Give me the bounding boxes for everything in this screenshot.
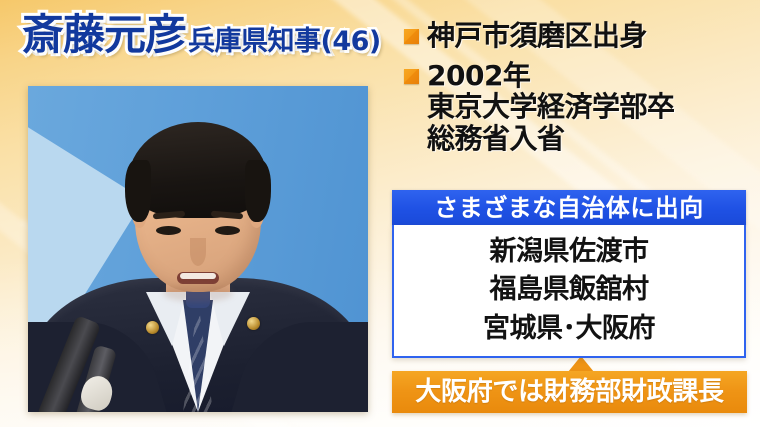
arrow-up-icon <box>568 356 594 372</box>
photo-hair-side-left <box>125 160 151 222</box>
photo-lapel-badge <box>146 321 159 334</box>
list-item-text: 2002年 東京大学経済学部卒 総務省入省 <box>427 60 675 155</box>
panel-header-bar: さまざまな自治体に出向 <box>392 190 746 225</box>
fact-bullet-list: 神戸市須磨区出身 2002年 東京大学経済学部卒 総務省入省 <box>404 20 754 163</box>
subject-photo <box>28 86 368 412</box>
panel-list-item: 新潟県佐渡市 <box>490 233 649 271</box>
subject-title: 兵庫県知事(46) <box>188 28 381 55</box>
list-item: 2002年 東京大学経済学部卒 総務省入省 <box>404 60 754 155</box>
list-item-line: 2002年 <box>427 59 530 92</box>
orange-square-bullet-icon <box>404 69 419 84</box>
panel-list-item: 福島県飯舘村 <box>490 271 649 309</box>
photo-eye-right <box>215 226 240 235</box>
list-item-line: 神戸市須磨区出身 <box>427 19 647 52</box>
panel-body: 新潟県佐渡市 福島県飯舘村 宮城県･大阪府 <box>392 225 746 358</box>
photo-lapel-badge <box>247 317 260 330</box>
photo-teeth <box>180 273 216 279</box>
photo-nose <box>190 238 206 266</box>
list-item: 神戸市須磨区出身 <box>404 20 754 52</box>
photo-chin-shadow <box>163 284 233 302</box>
news-graphic-stage: 斎藤元彦 兵庫県知事(46) <box>0 0 760 427</box>
photo-hair-side-right <box>245 160 271 222</box>
footer-banner: 大阪府では財務部財政課長 <box>392 371 747 413</box>
footer-banner-label: 大阪府では財務部財政課長 <box>415 379 723 405</box>
photo-mouth <box>177 272 219 284</box>
subject-name: 斎藤元彦 <box>22 14 186 56</box>
list-item-line: 東京大学経済学部卒 <box>427 91 675 123</box>
orange-square-bullet-icon <box>404 29 419 44</box>
panel-list-item: 宮城県･大阪府 <box>483 310 655 348</box>
photo-eye-left <box>156 226 181 235</box>
list-item-line: 総務省入省 <box>427 123 675 155</box>
panel-header-label: さまざまな自治体に出向 <box>434 196 704 220</box>
list-item-text: 神戸市須磨区出身 <box>427 20 647 52</box>
subject-nameplate: 斎藤元彦 兵庫県知事(46) <box>22 14 381 56</box>
